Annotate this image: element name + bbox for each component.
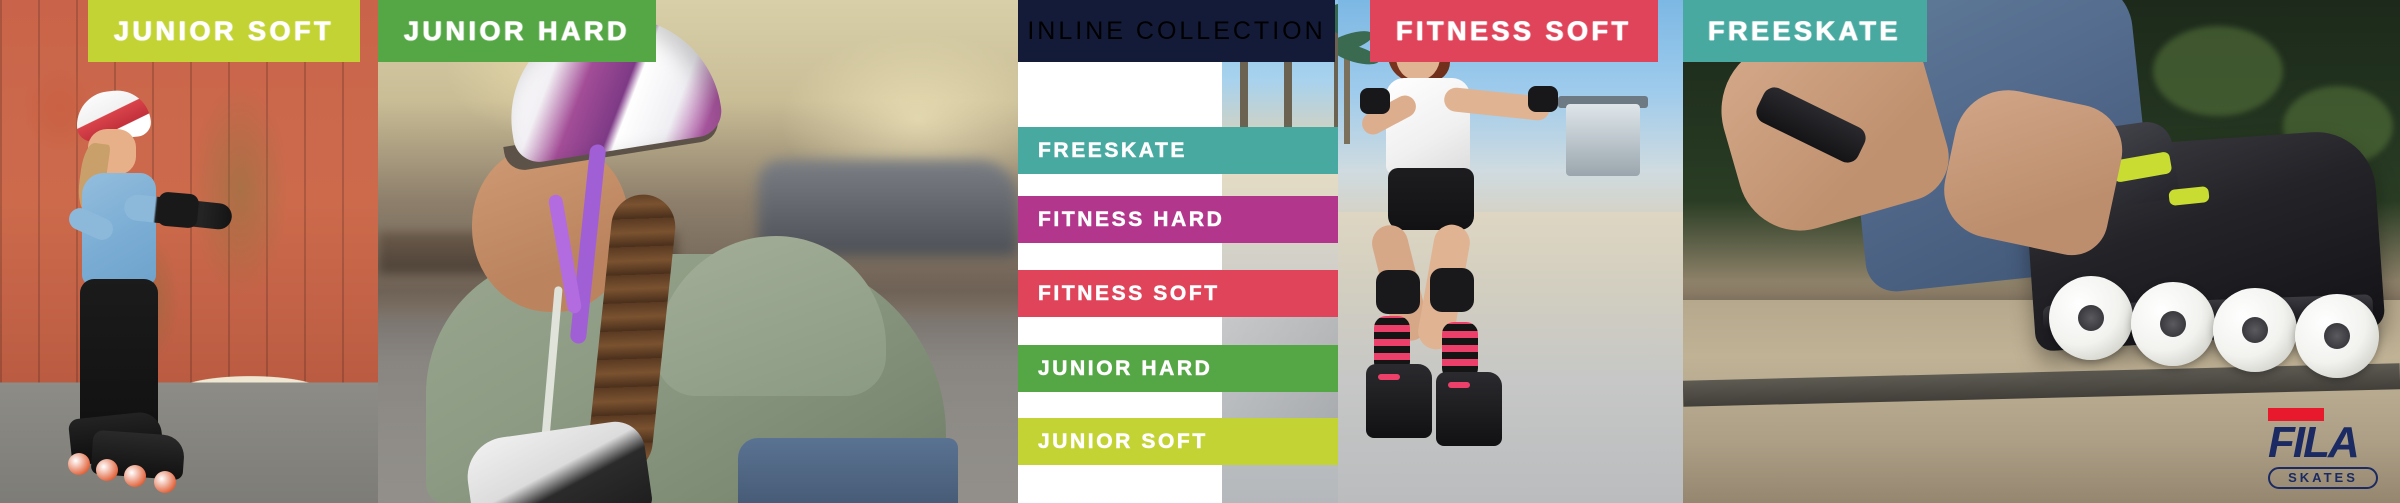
panel-inline-collection[interactable]: INLINE COLLECTION FREESKATE FITNESS HARD… (1018, 0, 1338, 503)
wheel-hub-shape (2324, 323, 2350, 349)
tag-junior-hard-label: JUNIOR HARD (404, 16, 630, 47)
tag-junior-hard[interactable]: JUNIOR HARD (378, 0, 656, 62)
foliage-shape (2153, 26, 2283, 116)
tag-fitness-soft-label: FITNESS SOFT (1396, 16, 1632, 47)
tag-freeskate-label: FREESKATE (1708, 16, 1901, 47)
wheel-shape (96, 459, 118, 481)
skate-accent-shape (1448, 382, 1470, 388)
jeans-shape (738, 438, 958, 503)
tag-junior-soft[interactable]: JUNIOR SOFT (88, 0, 360, 62)
fila-skates-label: SKATES (2268, 467, 2378, 489)
collection-header-label: INLINE COLLECTION (1027, 17, 1325, 46)
shorts-shape (1388, 168, 1474, 230)
panel-fitness-soft[interactable]: FITNESS SOFT (1338, 0, 1683, 503)
elbow-pad-shape (1360, 88, 1390, 114)
junior-hard-skater-figure (418, 18, 978, 503)
collection-item-label: FITNESS SOFT (1038, 282, 1220, 306)
fila-logo[interactable]: FILA SKATES (2268, 408, 2378, 489)
collection-item-fitness-soft[interactable]: FITNESS SOFT (1018, 270, 1338, 317)
wheel-hub-shape (2242, 317, 2268, 343)
collection-item-junior-soft[interactable]: JUNIOR SOFT (1018, 418, 1338, 465)
collection-item-label: FITNESS HARD (1038, 208, 1224, 232)
knee-pad-shape (1430, 268, 1474, 312)
wheel-shape (68, 453, 90, 475)
wheel-hub-shape (2160, 311, 2186, 337)
tag-freeskate[interactable]: FREESKATE (1683, 0, 1927, 62)
panel-freeskate[interactable]: FREESKATE FILA SKATES (1683, 0, 2400, 503)
fila-wordmark: FILA (2268, 423, 2378, 463)
panel-junior-soft[interactable]: JUNIOR SOFT (0, 0, 378, 503)
collection-item-label: JUNIOR HARD (1038, 357, 1212, 381)
junior-soft-skater-figure (62, 81, 212, 501)
wrist-guard-shape (1528, 86, 1558, 112)
collection-header: INLINE COLLECTION (1018, 0, 1335, 62)
collection-item-fitness-hard[interactable]: FITNESS HARD (1018, 196, 1338, 243)
wheel-shape (124, 465, 146, 487)
fila-inline-collection-banner: JUNIOR SOFT JUNIOR HARD (0, 0, 2400, 503)
wheel-shape (154, 471, 176, 493)
fitness-soft-skater-figure (1378, 30, 1618, 496)
wheel-hub-shape (2078, 305, 2104, 331)
panel-junior-hard[interactable]: JUNIOR HARD (378, 0, 1018, 503)
collection-item-freeskate[interactable]: FREESKATE (1018, 127, 1338, 174)
tag-fitness-soft[interactable]: FITNESS SOFT (1370, 0, 1658, 62)
collection-item-label: JUNIOR SOFT (1038, 430, 1208, 454)
knee-pad-shape (1376, 270, 1420, 314)
elbow-pad-shape (157, 191, 200, 228)
collection-item-junior-hard[interactable]: JUNIOR HARD (1018, 345, 1338, 392)
tag-junior-soft-label: JUNIOR SOFT (114, 16, 334, 47)
collection-item-label: FREESKATE (1038, 139, 1187, 163)
skate-accent-shape (1378, 374, 1400, 380)
